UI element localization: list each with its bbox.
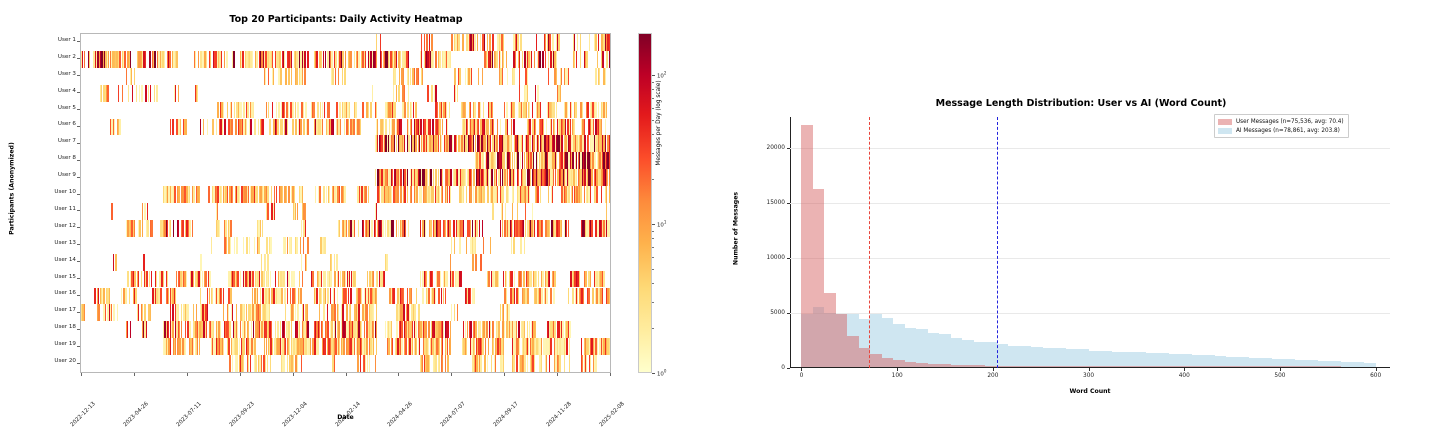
heatmap-cell <box>605 135 606 152</box>
heatmap-cell <box>298 304 299 321</box>
heatmap-cell <box>458 34 459 51</box>
heatmap-cell <box>609 220 610 237</box>
heatmap-cell <box>254 338 256 355</box>
heatmap-cell <box>367 355 368 372</box>
heatmap-cell <box>403 68 404 85</box>
heatmap-cell <box>542 271 543 288</box>
heatmap-cell <box>565 119 566 136</box>
heatmap-cell <box>384 271 385 288</box>
heatmap-cell <box>435 169 436 186</box>
heatmap-cell <box>232 304 233 321</box>
heatmap-cell <box>396 220 397 237</box>
heatmap-cell <box>533 152 534 169</box>
heatmap-cell <box>150 304 151 321</box>
heatmap-cell <box>404 186 406 203</box>
heatmap-cell <box>291 321 292 338</box>
heatmap-cell <box>546 288 547 305</box>
heatmap-cell <box>590 271 592 288</box>
heatmap-cell <box>445 355 446 372</box>
heatmap-cell <box>334 288 335 305</box>
heatmap-cell <box>287 288 288 305</box>
heatmap-cell <box>441 135 442 152</box>
heatmap-cell <box>451 304 452 321</box>
histogram-bar-ai <box>1054 348 1065 367</box>
heatmap-cell <box>463 220 464 237</box>
heatmap-cell <box>446 102 447 119</box>
histogram-bar-user <box>1192 366 1203 367</box>
heatmap-cell <box>487 186 488 203</box>
histogram-bar-user <box>813 189 824 367</box>
heatmap-cell <box>490 237 491 254</box>
heatmap-y-tick <box>77 312 80 313</box>
histogram-bar-user <box>1180 366 1191 367</box>
histogram-bar-user <box>801 125 812 367</box>
heatmap-cell <box>400 51 401 68</box>
heatmap-cell <box>393 119 395 136</box>
heatmap-cell <box>170 119 172 136</box>
heatmap-cell <box>182 220 183 237</box>
heatmap-cell <box>175 85 177 102</box>
heatmap-cell <box>227 186 228 203</box>
heatmap-cell <box>531 51 532 68</box>
heatmap-cell <box>265 254 266 271</box>
histogram-plot-area[interactable]: 050001000015000200000100200300400500600 <box>790 117 1390 368</box>
heatmap-cell <box>135 288 137 305</box>
heatmap-cell <box>437 102 438 119</box>
heatmap-cell <box>178 85 180 102</box>
heatmap-cell <box>546 355 547 372</box>
heatmap-row <box>81 237 610 254</box>
heatmap-cell <box>542 220 543 237</box>
heatmap-cell <box>230 288 231 305</box>
histogram-y-tick-label: 5000 <box>770 310 785 316</box>
histogram-x-tick <box>897 368 898 371</box>
heatmap-cell <box>300 288 302 305</box>
heatmap-cell <box>394 68 395 85</box>
heatmap-cell <box>511 119 513 136</box>
histogram-bar-ai <box>1112 352 1123 367</box>
heatmap-cell <box>307 321 309 338</box>
heatmap-cell <box>340 271 341 288</box>
heatmap-cell <box>536 271 537 288</box>
heatmap-cell <box>259 271 260 288</box>
heatmap-cell <box>358 304 360 321</box>
heatmap-cell <box>362 102 364 119</box>
heatmap-cell <box>302 271 304 288</box>
heatmap-cell <box>438 288 440 305</box>
heatmap-cell <box>170 304 172 321</box>
heatmap-cell <box>196 304 198 321</box>
heatmap-cell <box>250 119 251 136</box>
heatmap-x-tick <box>504 373 505 376</box>
heatmap-cell <box>471 68 472 85</box>
heatmap-cell <box>497 186 498 203</box>
heatmap-cell <box>192 220 193 237</box>
histogram-bar-ai <box>1077 349 1088 367</box>
heatmap-cell <box>605 119 606 136</box>
heatmap-cell <box>224 51 225 68</box>
heatmap-cell <box>398 85 399 102</box>
heatmap-cell <box>376 34 377 51</box>
heatmap-x-tick <box>134 373 135 376</box>
heatmap-cell <box>226 51 228 68</box>
heatmap-cell <box>175 288 176 305</box>
heatmap-row <box>81 34 610 51</box>
heatmap-cell <box>465 321 467 338</box>
heatmap-cell <box>435 51 436 68</box>
heatmap-cell <box>606 102 607 119</box>
heatmap-y-tick <box>77 160 80 161</box>
heatmap-cell <box>455 68 456 85</box>
heatmap-cell <box>156 271 157 288</box>
heatmap-cell <box>141 85 143 102</box>
heatmap-cell <box>585 271 586 288</box>
heatmap-cell <box>552 186 553 203</box>
histogram-bar-user <box>939 364 950 367</box>
heatmap-cell <box>223 304 225 321</box>
heatmap-cell <box>442 186 443 203</box>
heatmap-cell <box>506 51 507 68</box>
heatmap-cell <box>514 271 515 288</box>
heatmap-cell <box>445 288 447 305</box>
heatmap-cell <box>278 102 279 119</box>
heatmap-cell <box>493 119 494 136</box>
heatmap-cell <box>169 51 171 68</box>
heatmap-cell <box>170 220 171 237</box>
heatmap-y-tick-label: User 19 <box>54 342 76 348</box>
histogram-x-tick <box>1089 368 1090 371</box>
heatmap-cell <box>232 355 233 372</box>
heatmap-cell <box>327 321 329 338</box>
heatmap-cell <box>411 186 413 203</box>
heatmap-cell <box>519 338 521 355</box>
heatmap-y-tick-label: User 3 <box>58 72 76 78</box>
legend-item[interactable]: User Messages (n=75,536, avg: 70.4) <box>1218 117 1344 126</box>
heatmap-cell <box>306 254 308 271</box>
heatmap-cell <box>439 51 440 68</box>
heatmap-row <box>81 85 610 102</box>
heatmap-cell <box>603 271 604 288</box>
heatmap-cell <box>479 321 481 338</box>
histogram-bar-user <box>1100 366 1111 367</box>
histogram-bar-user <box>985 366 996 367</box>
heatmap-cell <box>373 271 374 288</box>
heatmap-cell <box>568 220 570 237</box>
heatmap-cell <box>454 304 455 321</box>
histogram-bar-user <box>870 354 881 367</box>
heatmap-cell <box>189 220 190 237</box>
heatmap-cell <box>233 51 235 68</box>
heatmap-cell <box>134 68 135 85</box>
histogram-bar-user <box>1031 366 1042 367</box>
histogram-bar-ai <box>1089 351 1100 368</box>
heatmap-cell <box>174 186 176 203</box>
heatmap-cell <box>325 271 326 288</box>
heatmap-cell <box>206 51 207 68</box>
heatmap-cell <box>512 203 514 220</box>
heatmap-cell <box>307 119 308 136</box>
heatmap-cell <box>486 321 488 338</box>
heatmap-cell <box>475 237 476 254</box>
heatmap-cell <box>554 119 556 136</box>
histogram-bar-ai <box>974 342 985 367</box>
heatmap-cell <box>480 34 482 51</box>
heatmap-cell <box>296 68 298 85</box>
histogram-x-tick-label: 300 <box>1083 373 1094 379</box>
heatmap-cell <box>471 169 472 186</box>
histogram-x-tick <box>993 368 994 371</box>
heatmap-y-tick-label: User 14 <box>54 258 76 264</box>
heatmap-cell <box>187 304 188 321</box>
heatmap-cell <box>181 304 183 321</box>
heatmap-cell <box>439 119 440 136</box>
heatmap-cell <box>285 68 286 85</box>
heatmap-y-tick <box>77 143 80 144</box>
heatmap-cell <box>376 51 377 68</box>
heatmap-cell <box>492 34 494 51</box>
heatmap-cell <box>550 338 552 355</box>
heatmap-cell <box>246 119 247 136</box>
heatmap-cell <box>200 271 202 288</box>
heatmap-cell <box>291 68 293 85</box>
heatmap-cell <box>281 288 282 305</box>
heatmap-cell <box>574 119 575 136</box>
histogram-bar-user <box>1318 366 1329 367</box>
heatmap-cell <box>396 85 397 102</box>
heatmap-cell <box>517 203 518 220</box>
heatmap-cell <box>503 355 504 372</box>
heatmap-cell <box>595 34 596 51</box>
histogram-bar-user <box>997 366 1008 367</box>
heatmap-cell <box>170 338 172 355</box>
histogram-bar-ai <box>1180 354 1191 367</box>
heatmap-cell <box>247 102 248 119</box>
heatmap-cell <box>598 102 600 119</box>
heatmap-cell <box>587 102 588 119</box>
heatmap-cell <box>303 102 305 119</box>
heatmap-cell <box>246 304 248 321</box>
heatmap-cell <box>252 271 254 288</box>
heatmap-y-tick <box>77 126 80 127</box>
gridline <box>790 148 1390 149</box>
histogram-legend[interactable]: User Messages (n=75,536, avg: 70.4)AI Me… <box>1214 114 1349 138</box>
heatmap-cell <box>243 355 244 372</box>
heatmap-cell <box>310 338 311 355</box>
heatmap-cell <box>138 304 139 321</box>
heatmap-cell <box>411 288 413 305</box>
heatmap-cell <box>571 102 572 119</box>
heatmap-cell <box>418 304 420 321</box>
heatmap-cell <box>372 85 373 102</box>
heatmap-row <box>81 119 610 136</box>
heatmap-cell <box>561 68 562 85</box>
heatmap-y-tick <box>77 41 80 42</box>
heatmap-cell <box>553 288 555 305</box>
heatmap-cell <box>435 355 436 372</box>
histogram-bar-user <box>1077 366 1088 367</box>
heatmap-cell <box>223 102 224 119</box>
heatmap-cell <box>508 304 509 321</box>
histogram-bar-ai <box>928 333 939 367</box>
heatmap-cell <box>461 271 462 288</box>
heatmap-cell <box>576 51 578 68</box>
heatmap-cell <box>358 220 359 237</box>
heatmap-cell <box>414 68 416 85</box>
heatmap-cell <box>291 51 292 68</box>
heatmap-y-tick-label: User 15 <box>54 275 76 281</box>
heatmap-cell <box>318 338 319 355</box>
heatmap-cell <box>287 237 288 254</box>
histogram-bar-user <box>1249 366 1260 367</box>
heatmap-cell <box>267 203 268 220</box>
heatmap-cell <box>580 186 582 203</box>
heatmap-cell <box>271 186 272 203</box>
heatmap-cell <box>591 220 592 237</box>
heatmap-cell <box>473 169 475 186</box>
heatmap-cell <box>361 288 362 305</box>
histogram-bar-user <box>1112 366 1123 367</box>
heatmap-cell <box>582 102 583 119</box>
heatmap-cell <box>556 102 557 119</box>
heatmap-cell <box>470 102 471 119</box>
heatmap-cell <box>485 338 486 355</box>
heatmap-cell <box>483 186 484 203</box>
heatmap-cell <box>484 355 486 372</box>
heatmap-cell <box>538 271 539 288</box>
heatmap-row <box>81 51 610 68</box>
heatmap-cell <box>144 203 145 220</box>
heatmap-cell <box>236 304 237 321</box>
histogram-x-tick-label: 600 <box>1370 373 1381 379</box>
heatmap-y-tick-label: User 2 <box>58 55 76 61</box>
heatmap-cell <box>466 237 467 254</box>
heatmap-cell <box>208 186 210 203</box>
legend-item[interactable]: AI Messages (n=78,861, avg: 203.8) <box>1218 126 1344 135</box>
heatmap-cell <box>373 338 374 355</box>
heatmap-y-tick-label: User 20 <box>54 359 76 365</box>
heatmap-cell <box>376 102 377 119</box>
heatmap-cell <box>354 220 355 237</box>
histogram-bar-ai <box>1364 363 1375 367</box>
heatmap-cell <box>405 338 407 355</box>
heatmap-cell <box>269 304 270 321</box>
figure-canvas: Top 20 Participants: Daily Activity Heat… <box>0 0 1432 434</box>
heatmap-cell <box>305 203 306 220</box>
histogram-bar-user <box>1215 366 1226 367</box>
heatmap-cell <box>480 355 481 372</box>
heatmap-cell <box>200 288 201 305</box>
heatmap-cell <box>327 288 328 305</box>
heatmap-cell <box>435 85 437 102</box>
heatmap-cell <box>478 68 479 85</box>
heatmap-cell <box>317 102 318 119</box>
heatmap-cell <box>294 186 296 203</box>
heatmap-cell <box>249 237 250 254</box>
histogram-x-tick-label: 500 <box>1274 373 1285 379</box>
heatmap-cell <box>141 271 142 288</box>
heatmap-cell <box>360 355 361 372</box>
heatmap-cell <box>484 34 485 51</box>
heatmap-cell <box>536 34 537 51</box>
heatmap-cell <box>400 169 401 186</box>
heatmap-cell <box>345 51 347 68</box>
heatmap-cell <box>602 51 604 68</box>
heatmap-cell <box>559 355 560 372</box>
heatmap-plot-area[interactable] <box>80 33 611 373</box>
heatmap-cell <box>304 51 305 68</box>
heatmap-cell <box>364 321 365 338</box>
heatmap-x-tick <box>293 373 294 376</box>
heatmap-cell <box>254 237 255 254</box>
heatmap-cell <box>584 135 586 152</box>
heatmap-cell <box>230 220 232 237</box>
heatmap-cell <box>524 321 526 338</box>
heatmap-y-tick <box>77 295 80 296</box>
heatmap-cell <box>361 321 362 338</box>
heatmap-cell <box>126 288 127 305</box>
colorbar[interactable]: 100101102 <box>638 33 652 373</box>
heatmap-cell <box>428 321 430 338</box>
heatmap-cell <box>268 102 270 119</box>
heatmap-cell <box>332 68 334 85</box>
heatmap-cell <box>545 51 547 68</box>
heatmap-cell <box>561 220 563 237</box>
heatmap-cell <box>535 85 536 102</box>
heatmap-cell <box>489 34 491 51</box>
heatmap-row <box>81 68 610 85</box>
heatmap-cell <box>185 338 186 355</box>
histogram-bar-user <box>1134 366 1145 367</box>
heatmap-cell <box>209 271 210 288</box>
heatmap-cell <box>595 68 596 85</box>
heatmap-cell <box>549 34 551 51</box>
heatmap-cell <box>127 321 128 338</box>
heatmap-y-tick-label: User 13 <box>54 241 76 247</box>
heatmap-cell <box>272 338 274 355</box>
heatmap-cell <box>537 85 538 102</box>
heatmap-cell <box>130 321 131 338</box>
heatmap-cell <box>556 51 557 68</box>
heatmap-cell <box>487 34 488 51</box>
heatmap-cell <box>514 102 515 119</box>
histogram-bar-user <box>1238 366 1249 367</box>
heatmap-cell <box>407 102 408 119</box>
heatmap-cell <box>337 288 338 305</box>
heatmap-cell <box>432 271 433 288</box>
histogram-bar-ai <box>939 334 950 367</box>
heatmap-cell <box>593 119 594 136</box>
heatmap-cell <box>408 135 409 152</box>
heatmap-cell <box>527 68 528 85</box>
histogram-bar-user <box>824 293 835 367</box>
heatmap-cell <box>580 34 581 51</box>
heatmap-cell <box>368 186 369 203</box>
heatmap-y-tick <box>77 75 80 76</box>
heatmap-cell <box>474 102 475 119</box>
heatmap-cell <box>456 135 457 152</box>
heatmap-cell <box>507 119 509 136</box>
histogram-bar-ai <box>1157 353 1168 367</box>
heatmap-cell <box>601 186 602 203</box>
heatmap-cell <box>517 34 518 51</box>
heatmap-cell <box>451 34 452 51</box>
heatmap-cell <box>591 169 593 186</box>
heatmap-cell <box>579 271 580 288</box>
heatmap-cell <box>344 119 345 136</box>
heatmap-cell <box>522 135 523 152</box>
heatmap-cell <box>142 220 143 237</box>
heatmap-cell <box>527 288 529 305</box>
